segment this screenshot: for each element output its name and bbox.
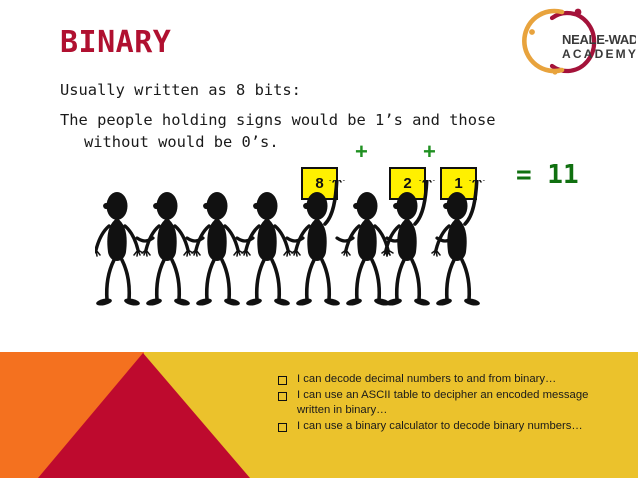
logo-name-line1: NEALE-WADE (562, 32, 636, 47)
banner-triangle-shape (38, 353, 250, 478)
logo-graphic: NEALE-WADE ACADEMY (518, 6, 636, 78)
sum-result: = 11 (516, 160, 579, 190)
list-item: I can use an ASCII table to decipher an … (278, 388, 608, 418)
objective-text: I can decode decimal numbers to and from… (297, 372, 556, 387)
empty-checkbox-icon (278, 376, 287, 385)
list-item: I can decode decimal numbers to and from… (278, 372, 608, 387)
logo-name-line2: ACADEMY (562, 47, 636, 61)
objective-text: I can use a binary calculator to decode … (297, 419, 583, 434)
empty-checkbox-icon (278, 423, 287, 432)
logo-dot-left (529, 29, 535, 35)
body-line-1: Usually written as 8 bits: (60, 78, 301, 102)
stick-figure-4 (242, 192, 293, 307)
objective-text: I can use an ASCII table to decipher an … (297, 388, 608, 418)
stick-figure-row (95, 180, 495, 310)
body-line-3: without would be 0’s. (84, 130, 279, 154)
objectives-list: I can decode decimal numbers to and from… (278, 372, 608, 435)
plus-symbol-1: + (355, 142, 368, 162)
stick-figure-7-holding-sign-2 (382, 180, 434, 307)
page-title: BINARY (60, 26, 171, 60)
list-item: I can use a binary calculator to decode … (278, 419, 608, 434)
stick-figures-graphic (95, 180, 495, 310)
logo-dot-bottom (552, 69, 557, 74)
school-logo: NEALE-WADE ACADEMY (518, 6, 636, 78)
logo-dot-top (575, 9, 582, 16)
stick-figure-8-holding-sign-1 (432, 180, 484, 307)
stick-figure-3 (192, 192, 243, 307)
empty-checkbox-icon (278, 392, 287, 401)
stick-figure-2 (142, 192, 193, 307)
logo-arc-gold (524, 11, 562, 71)
stick-figure-5-holding-sign-8 (292, 180, 344, 307)
plus-symbol-2: + (423, 142, 436, 162)
stick-figure-1 (95, 192, 143, 307)
slide-canvas: BINARY NEALE-WADE ACADEMY Usually writte… (0, 0, 638, 478)
body-line-2: The people holding signs would be 1’s an… (60, 108, 496, 132)
